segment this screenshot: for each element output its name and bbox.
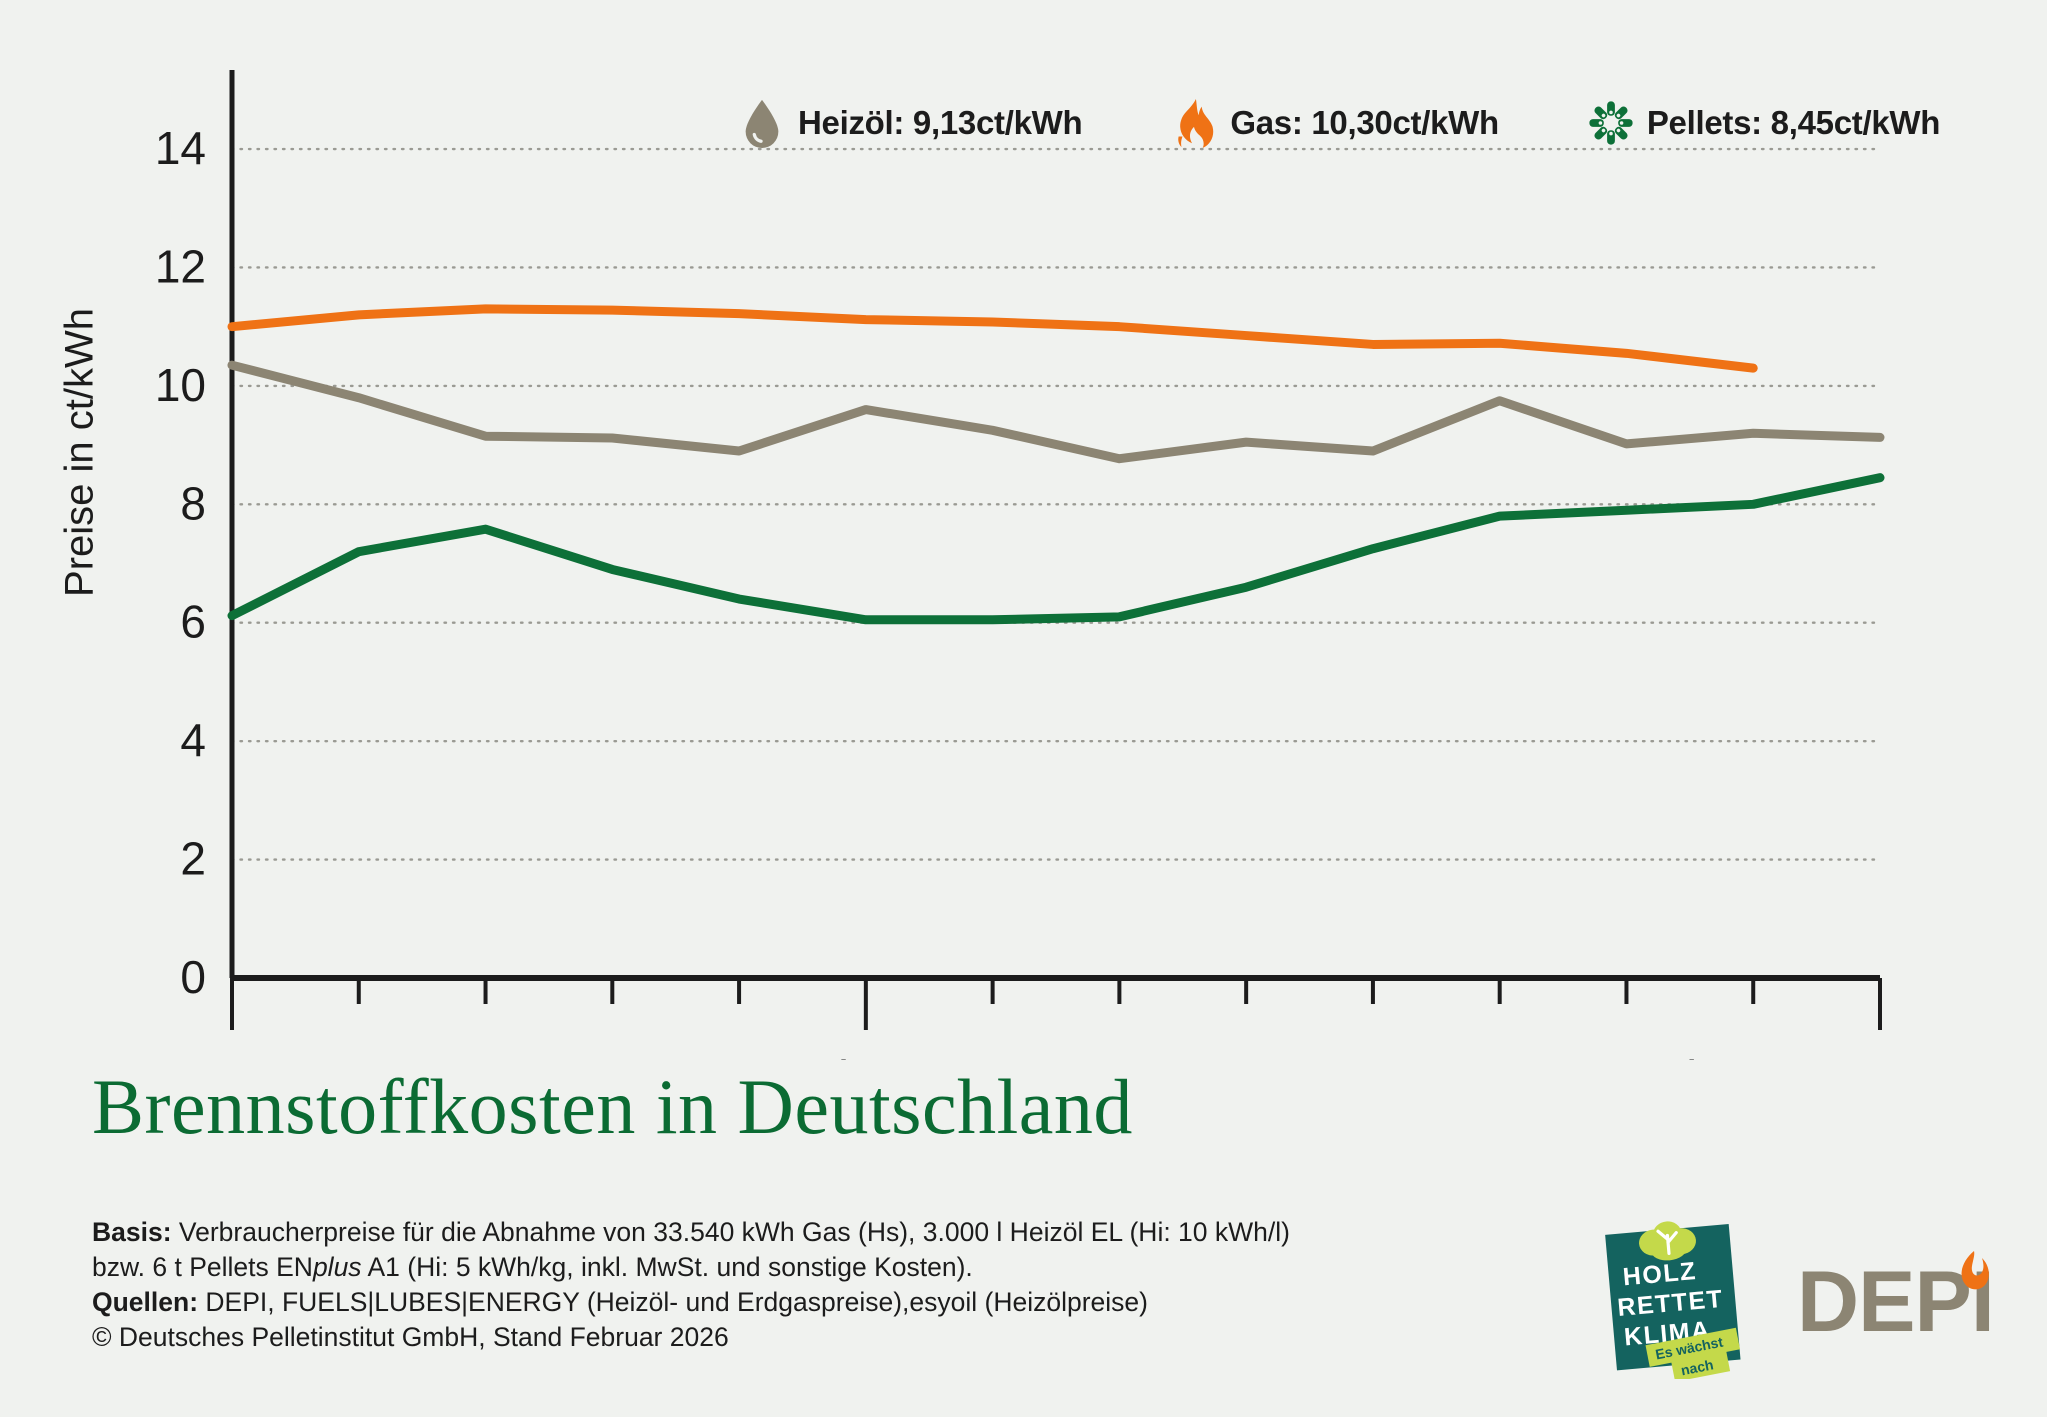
footnote-quellen-line: Quellen: DEPI, FUELS|LUBES|ENERGY (Heizö… — [92, 1285, 1290, 1320]
y-axis-title: Preise in ct/kWh — [58, 213, 103, 693]
chart-canvas: 02468101214Januar 2025Juni 2025Februar 2… — [0, 0, 2047, 1060]
holz-rettet-klima-logo: HOLZ RETTET KLIMA Es wächst nach — [1605, 1219, 1745, 1379]
line-chart: 02468101214Januar 2025Juni 2025Februar 2… — [0, 0, 2047, 1060]
y-axis-tick-label: 2 — [180, 833, 206, 885]
x-axis-tick-label: Januar 2025 — [184, 1051, 462, 1060]
y-axis-tick-label: 4 — [180, 714, 206, 766]
footnote-copyright: © Deutsches Pelletinstitut GmbH, Stand F… — [92, 1320, 1290, 1355]
y-axis-tick-label: 8 — [180, 477, 206, 529]
infographic-root: Heizöl: 9,13ct/kWh Gas: 10,30ct/kWh — [0, 0, 2047, 1417]
footnote-basis-text: Verbraucherpreise für die Abnahme von 33… — [172, 1217, 1290, 1247]
y-axis-tick-label: 14 — [155, 122, 206, 174]
series-line-pellets — [232, 478, 1880, 620]
logo-group: HOLZ RETTET KLIMA Es wächst nach DEPI — [1605, 1219, 1997, 1379]
footnote-basis-text2b: A1 (Hi: 5 kWh/kg, inkl. MwSt. und sonsti… — [362, 1252, 973, 1282]
x-axis-tick-label: Juni 2025 — [757, 1051, 974, 1060]
y-axis-tick-label: 12 — [155, 240, 206, 292]
footnote-basis-text2a: bzw. 6 t Pellets EN — [92, 1252, 313, 1282]
footnote-basis-line2: bzw. 6 t Pellets ENplus A1 (Hi: 5 kWh/kg… — [92, 1250, 1290, 1285]
series-line-gas — [232, 309, 1753, 368]
footnote-enplus: plus — [313, 1252, 362, 1282]
x-axis-tick-label: Februar 2026 — [1628, 1051, 1928, 1060]
footnote-basis-line: Basis: Verbraucherpreise für die Abnahme… — [92, 1215, 1290, 1250]
depi-logo: DEPI — [1797, 1239, 1997, 1359]
footnote-quellen-label: Quellen: — [92, 1287, 198, 1317]
series-line-heizl — [232, 365, 1880, 459]
y-axis-tick-label: 10 — [155, 359, 206, 411]
y-axis-tick-label: 6 — [180, 596, 206, 648]
footnote-quellen-text: DEPI, FUELS|LUBES|ENERGY (Heizöl- und Er… — [198, 1287, 1148, 1317]
page-title: Brennstoffkosten in Deutschland — [92, 1062, 1133, 1152]
footnote-block: Basis: Verbraucherpreise für die Abnahme… — [92, 1215, 1290, 1355]
footnote-basis-label: Basis: — [92, 1217, 172, 1247]
y-axis-tick-label: 0 — [180, 951, 206, 1003]
